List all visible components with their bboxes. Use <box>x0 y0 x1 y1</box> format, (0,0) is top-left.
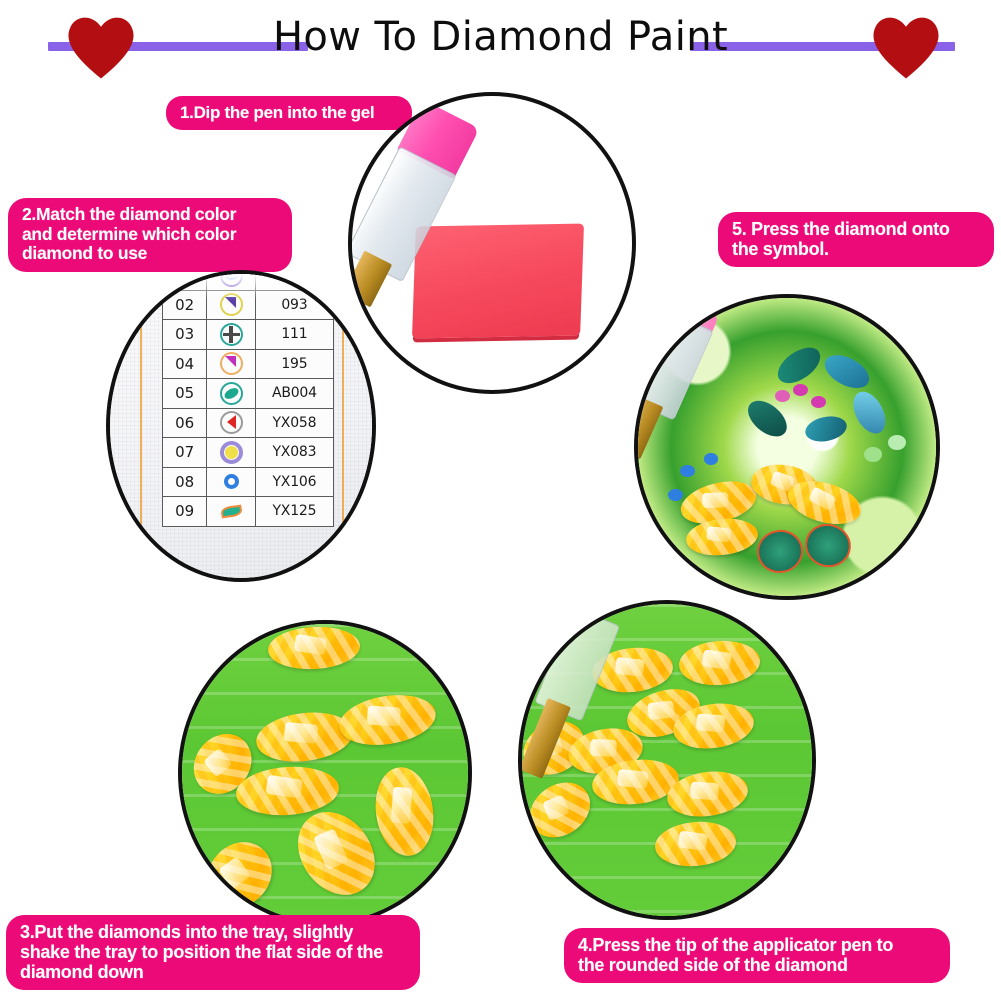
pen-tip <box>634 396 663 459</box>
step-1-photo <box>348 92 636 394</box>
step-5-label: 5. Press the diamond onto the symbol. <box>718 212 994 267</box>
step-4-photo <box>518 600 816 920</box>
leaf-icon <box>207 497 255 527</box>
canvas-guide-line <box>342 274 344 578</box>
chart-code: YX106 <box>255 467 333 497</box>
chart-code: 111 <box>255 320 333 350</box>
chart-code: YX058 <box>255 408 333 438</box>
step-5-photo <box>634 294 940 600</box>
step-3-photo <box>178 620 472 926</box>
step-2-label: 2.Match the diamond color and determine … <box>8 198 292 272</box>
ring-icon <box>207 467 255 497</box>
table-row: 06 YX058 <box>163 408 334 438</box>
step-4-label: 4.Press the tip of the applicator pen to… <box>564 928 950 983</box>
page-title: How To Diamond Paint <box>0 14 1001 60</box>
ellipse-icon <box>207 379 255 409</box>
photo-top-fade <box>110 274 372 300</box>
placed-gem <box>811 396 826 408</box>
chart-index: 04 <box>163 349 207 379</box>
chart-code: YX125 <box>255 497 333 527</box>
chart-index: 06 <box>163 408 207 438</box>
chart-index: 05 <box>163 379 207 409</box>
step-2-photo: 01 020 02 093 03 111 04 <box>106 270 376 582</box>
gel-pad <box>412 224 584 339</box>
table-row: 04 195 <box>163 349 334 379</box>
left-arrow-icon <box>207 408 255 438</box>
page-header: How To Diamond Paint <box>0 0 1001 92</box>
filled-disc-icon <box>207 438 255 468</box>
chart-code: AB004 <box>255 379 333 409</box>
table-row: 09 YX125 <box>163 497 334 527</box>
step-3-label: 3.Put the diamonds into the tray, slight… <box>6 915 420 990</box>
color-symbol-chart: 01 020 02 093 03 111 04 <box>162 270 334 527</box>
table-row: 05 AB004 <box>163 379 334 409</box>
canvas-guide-line <box>140 274 142 578</box>
cross-icon <box>207 320 255 350</box>
chart-index: 07 <box>163 438 207 468</box>
chart-index: 03 <box>163 320 207 350</box>
table-row: 07 YX083 <box>163 438 334 468</box>
chart-index: 08 <box>163 467 207 497</box>
table-row: 08 YX106 <box>163 467 334 497</box>
placed-gem <box>668 489 683 501</box>
placed-gem <box>704 453 719 465</box>
chart-code: 195 <box>255 349 333 379</box>
chart-index: 09 <box>163 497 207 527</box>
triangle-icon <box>207 349 255 379</box>
placed-gem <box>680 465 695 477</box>
chart-code: YX083 <box>255 438 333 468</box>
table-row: 03 111 <box>163 320 334 350</box>
